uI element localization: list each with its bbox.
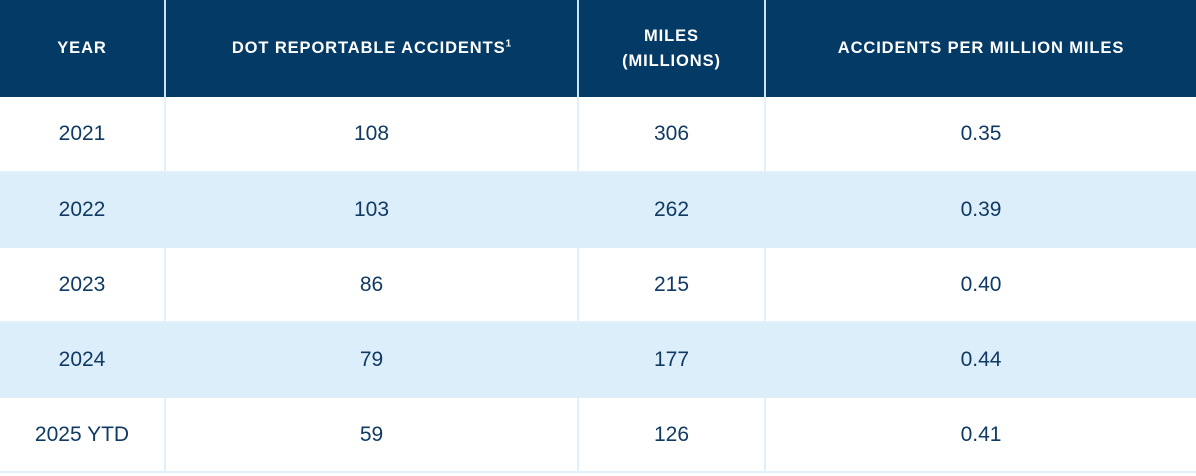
table-row: 2022 103 262 0.39 <box>0 172 1196 247</box>
table-row: 2025 YTD 59 126 0.41 <box>0 397 1196 472</box>
cell-accidents: 103 <box>165 172 578 247</box>
column-header-accidents-per-million-miles-label: ACCIDENTS PER MILLION MILES <box>838 39 1124 57</box>
column-header-dot-reportable-accidents: DOT REPORTABLE ACCIDENTS1 <box>165 0 578 97</box>
cell-accidents: 59 <box>165 397 578 472</box>
table-body: 2021 108 306 0.35 2022 103 262 0.39 2023… <box>0 97 1196 472</box>
cell-year: 2025 YTD <box>0 397 165 472</box>
table-header-row: YEAR DOT REPORTABLE ACCIDENTS1 MILES(MIL… <box>0 0 1196 97</box>
column-header-miles-line1: MILES <box>644 27 699 45</box>
table-header: YEAR DOT REPORTABLE ACCIDENTS1 MILES(MIL… <box>0 0 1196 97</box>
safety-statistics-table: YEAR DOT REPORTABLE ACCIDENTS1 MILES(MIL… <box>0 0 1196 473</box>
cell-accidents-per-million-miles: 0.41 <box>765 397 1196 472</box>
table-row: 2021 108 306 0.35 <box>0 97 1196 172</box>
cell-accidents: 86 <box>165 247 578 322</box>
column-header-miles-line2: (MILLIONS) <box>622 52 721 70</box>
cell-miles: 177 <box>578 322 765 397</box>
table-row: 2024 79 177 0.44 <box>0 322 1196 397</box>
footnote-marker: 1 <box>506 39 512 50</box>
column-header-miles: MILES(MILLIONS) <box>578 0 765 97</box>
cell-miles: 126 <box>578 397 765 472</box>
cell-miles: 306 <box>578 97 765 172</box>
column-header-accidents-per-million-miles: ACCIDENTS PER MILLION MILES <box>765 0 1196 97</box>
cell-accidents-per-million-miles: 0.35 <box>765 97 1196 172</box>
cell-accidents-per-million-miles: 0.40 <box>765 247 1196 322</box>
cell-accidents-per-million-miles: 0.39 <box>765 172 1196 247</box>
column-header-dot-reportable-accidents-label: DOT REPORTABLE ACCIDENTS <box>232 39 506 57</box>
column-header-year-label: YEAR <box>57 39 106 57</box>
cell-miles: 215 <box>578 247 765 322</box>
column-header-year: YEAR <box>0 0 165 97</box>
table-row: 2023 86 215 0.40 <box>0 247 1196 322</box>
cell-year: 2024 <box>0 322 165 397</box>
cell-year: 2021 <box>0 97 165 172</box>
cell-accidents: 108 <box>165 97 578 172</box>
cell-accidents-per-million-miles: 0.44 <box>765 322 1196 397</box>
cell-miles: 262 <box>578 172 765 247</box>
cell-year: 2022 <box>0 172 165 247</box>
cell-accidents: 79 <box>165 322 578 397</box>
cell-year: 2023 <box>0 247 165 322</box>
